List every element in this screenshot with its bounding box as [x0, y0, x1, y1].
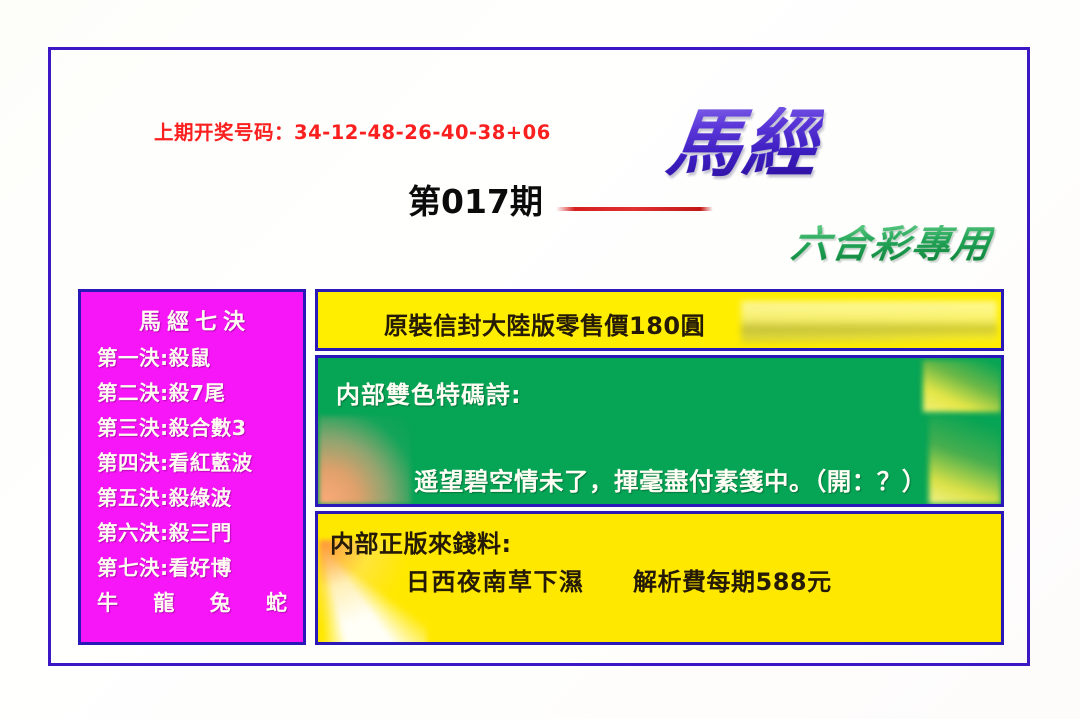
previous-draw-numbers: 上期开奖号码：34-12-48-26-40-38+06 — [154, 116, 551, 145]
poem-smudge-bottom-right — [929, 416, 1001, 504]
zodiac-list: 牛 龍 兔 蛇 — [81, 583, 303, 617]
poster-content: 馬經七決 第一決:殺鼠 第二決:殺7尾 第三決:殺合數3 第四決:看紅藍波 第五… — [78, 289, 1004, 645]
issue-number: 第017期 — [408, 175, 543, 223]
seven-decisions-row-6: 第六決:殺三門 — [81, 513, 303, 548]
price-redaction-smudge — [741, 301, 997, 343]
seven-decisions-row-5: 第五決:殺綠波 — [81, 478, 303, 513]
price-text: 原裝信封大陸版零售價180圓 — [384, 306, 705, 341]
seven-decisions-row-3: 第三決:殺合數3 — [81, 408, 303, 443]
money-line-primary: 日西夜南草下濕 — [406, 562, 585, 597]
seven-decisions-row-2: 第二決:殺7尾 — [81, 373, 303, 408]
poem-label: 内部雙色特碼詩: — [336, 375, 522, 410]
right-panel-stack: 原裝信封大陸版零售價180圓 内部雙色特碼詩: 遥望碧空情未了，揮毫盡付素箋中。… — [315, 289, 1004, 645]
money-fee-line: 解析費每期588元 — [633, 562, 832, 597]
poem-smudge-bottom-left — [319, 416, 411, 504]
brand-title-logo: 馬經 — [663, 107, 824, 181]
seven-decisions-title: 馬經七決 — [81, 304, 303, 336]
special-code-poem-panel: 内部雙色特碼詩: 遥望碧空情未了，揮毫盡付素箋中。（開：？） — [315, 355, 1004, 507]
seven-decisions-panel: 馬經七決 第一決:殺鼠 第二決:殺7尾 第三決:殺合數3 第四決:看紅藍波 第五… — [78, 289, 306, 645]
poem-line: 遥望碧空情未了，揮毫盡付素箋中。（開：？） — [414, 463, 927, 498]
poem-smudge-top-right — [923, 360, 1001, 412]
poster-canvas: 上期开奖号码：34-12-48-26-40-38+06 第017期 馬經 六合彩… — [0, 0, 1080, 719]
seven-decisions-row-1: 第一決:殺鼠 — [81, 338, 303, 373]
money-material-panel: 内部正版來錢料: 日西夜南草下濕 解析費每期588元 — [315, 511, 1004, 645]
seven-decisions-row-4: 第四決:看紅藍波 — [81, 443, 303, 478]
price-banner: 原裝信封大陸版零售價180圓 — [315, 289, 1004, 351]
poster-header: 上期开奖号码：34-12-48-26-40-38+06 第017期 馬經 六合彩… — [48, 47, 1030, 283]
seven-decisions-row-7: 第七決:看好博 — [81, 548, 303, 583]
red-divider-rule — [556, 207, 713, 211]
money-label: 内部正版來錢料: — [330, 524, 512, 559]
brand-subtitle: 六合彩專用 — [789, 225, 995, 263]
